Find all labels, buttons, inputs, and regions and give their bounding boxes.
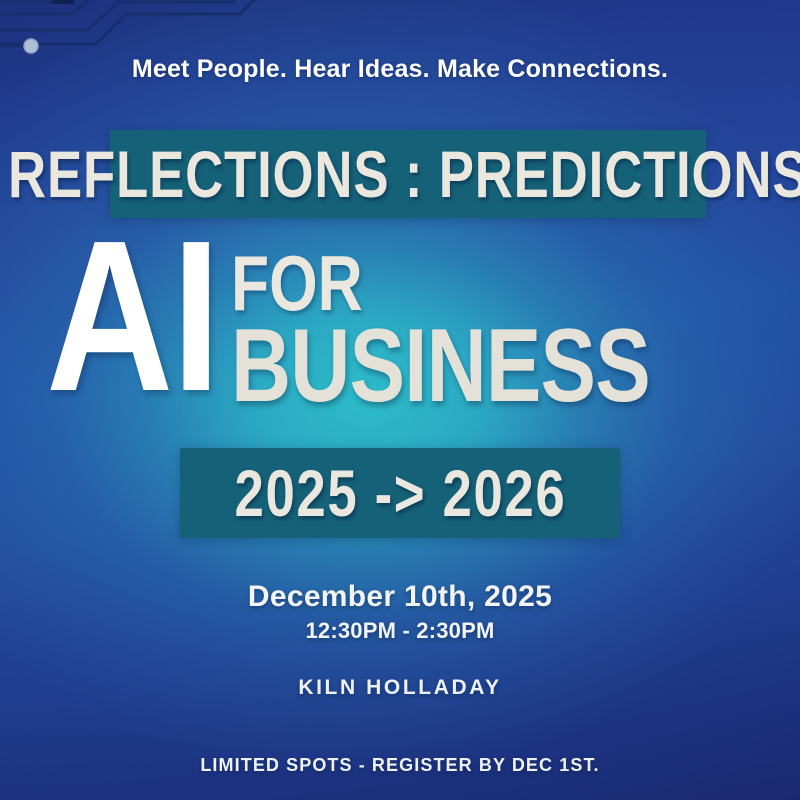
title-primary: AI bbox=[46, 230, 219, 402]
event-venue: KILN HOLLADAY bbox=[0, 676, 800, 700]
title-stack: FOR BUSINESS bbox=[231, 250, 755, 415]
circuit-node-dot bbox=[24, 39, 38, 53]
years-band: 2025 -> 2026 bbox=[180, 448, 620, 538]
event-date: December 10th, 2025 bbox=[0, 580, 800, 614]
registration-notice: LIMITED SPOTS - REGISTER BY DEC 1ST. bbox=[0, 755, 800, 776]
circuit-chip-block bbox=[52, 0, 74, 4]
title-secondary: BUSINESS bbox=[231, 319, 650, 415]
tagline: Meet People. Hear Ideas. Make Connection… bbox=[0, 55, 800, 84]
event-poster: Meet People. Hear Ideas. Make Connection… bbox=[0, 0, 800, 800]
event-time: 12:30PM - 2:30PM bbox=[0, 618, 800, 644]
title-lockup: AI FOR BUSINESS bbox=[0, 228, 800, 433]
title-connector: FOR bbox=[231, 250, 363, 317]
years-text: 2025 -> 2026 bbox=[234, 460, 566, 526]
